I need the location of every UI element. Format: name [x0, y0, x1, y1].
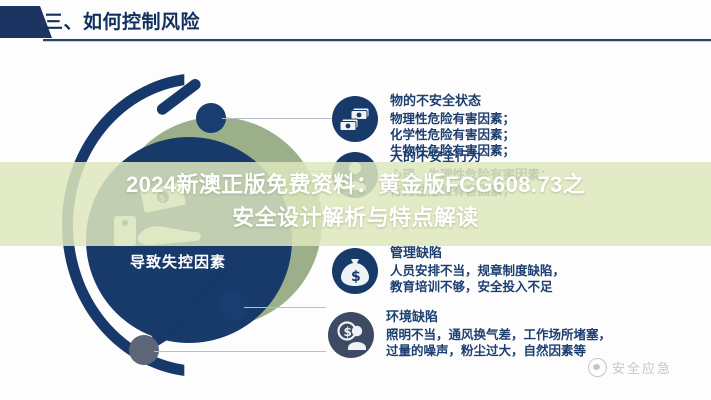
cash-stack-icon	[332, 96, 378, 142]
factor-block-line: 人员安排不当，规章制度缺陷，	[390, 263, 565, 279]
svg-text:$: $	[351, 269, 361, 285]
factor-block-line: 教育培训不够，安全投入不足	[390, 279, 565, 295]
overlay-banner-line2: 安全设计解析与特点解读	[0, 201, 711, 234]
factor-block-title: 物的不安全状态	[390, 92, 515, 109]
factor-block-line: 化学性危险有害因素；	[390, 127, 515, 143]
header-divider-soft	[43, 41, 711, 42]
person-coin-icon: $	[328, 312, 374, 358]
factor-block-line: 过量的噪声，粉尘过大，自然因素等	[386, 343, 611, 359]
overlay-banner-line1: 2024新澳正版免费资料：黄金版FCG608.73之	[0, 168, 711, 201]
panda-logo-icon	[588, 358, 607, 377]
factor-block-body: 环境缺陷 照明不当，通风换气差，工作场所堵塞， 过量的噪声，粉尘过大，自然因素等	[386, 308, 611, 359]
page-title: 三、如何控制风险	[44, 7, 200, 34]
node-lower[interactable]	[129, 335, 159, 365]
lead-line-3	[244, 307, 326, 308]
factor-block-title: 管理缺陷	[390, 244, 565, 261]
watermark-text: 安全应急	[612, 358, 672, 377]
overlay-banner-text: 2024新澳正版免费资料：黄金版FCG608.73之 安全设计解析与特点解读	[0, 168, 711, 234]
factor-block-title: 环境缺陷	[386, 308, 611, 325]
watermark: 安全应急	[588, 358, 672, 377]
svg-text:$: $	[344, 325, 352, 339]
factor-block-line: 照明不当，通风换气差，工作场所堵塞，	[386, 327, 611, 343]
money-bag-icon: $	[332, 248, 378, 294]
slide-canvas: 三、如何控制风险 $ 导致失控因素	[0, 0, 711, 400]
lead-line-1	[222, 118, 332, 119]
node-mid[interactable]	[219, 291, 249, 321]
lead-line-4	[154, 351, 326, 352]
factor-block-line: 物理性危险有害因素；	[390, 111, 515, 127]
factor-block-body: 管理缺陷 人员安排不当，规章制度缺陷， 教育培训不够，安全投入不足	[390, 244, 565, 295]
